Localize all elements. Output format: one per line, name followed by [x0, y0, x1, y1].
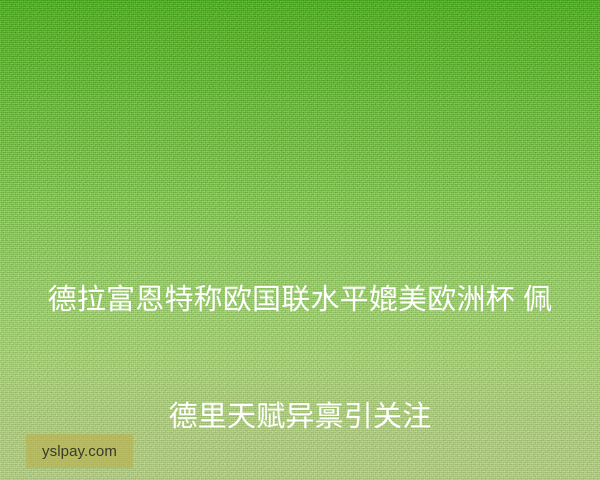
headline-line-2: 德里天赋异禀引关注	[0, 398, 600, 437]
headline-line-1: 德拉富恩特称欧国联水平媲美欧洲杯 佩	[0, 281, 600, 320]
watermark-label: yslpay.com	[42, 444, 117, 459]
image-canvas: 德拉富恩特称欧国联水平媲美欧洲杯 佩 德里天赋异禀引关注 yslpay.com	[0, 0, 600, 480]
watermark-badge: yslpay.com	[26, 434, 133, 468]
